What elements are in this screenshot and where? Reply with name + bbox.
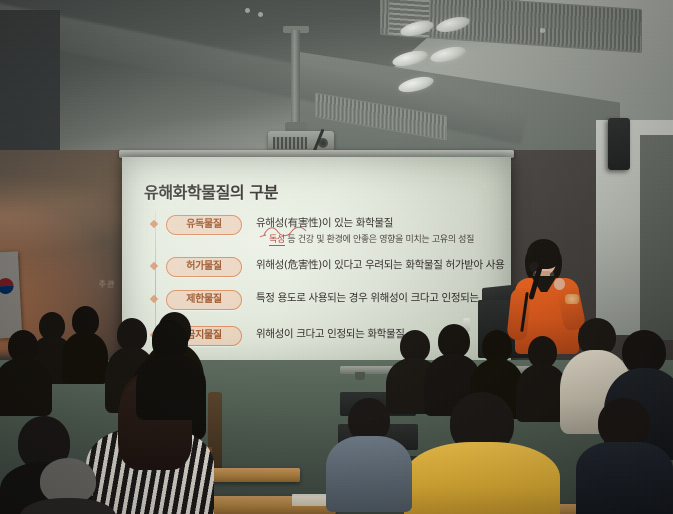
projector-mount-pole (291, 30, 300, 128)
rail-foot (355, 372, 365, 380)
slide-row: 제한물질 특정 용도로 사용되는 경우 위해성이 크다고 인정되는 화학물질 (140, 290, 497, 310)
audience-person (136, 322, 206, 416)
audience-shoulders (20, 498, 116, 514)
right-wall-dark-panel (640, 135, 673, 340)
slide-row-text: 위해성(危害性)이 있다고 우려되는 화학물질 허가받아 사용 (256, 258, 504, 272)
lecture-hall-photo: 주관 유해화학물질의 구분 유독물질 유해성(有害性)이 있는 화학물질 (0, 0, 673, 514)
audience-head (598, 398, 650, 448)
wall-banner-graphic-highlight (0, 175, 140, 255)
audience-person (0, 330, 48, 414)
ceiling-sprinkler (540, 28, 545, 33)
slide-row: 유독물질 유해성(有害性)이 있는 화학물질 독성 등 건강 및 환경에 안좋은… (140, 215, 497, 246)
ceiling-sprinkler (258, 12, 263, 17)
audience-person-yellow (404, 392, 560, 514)
yellow-sweater (404, 442, 560, 514)
audience-shoulders (136, 354, 206, 420)
slide-row-text: 특정 용도로 사용되는 경우 위해성이 크다고 인정되는 화학물질 (256, 291, 511, 305)
ceiling-sprinkler (245, 8, 250, 13)
bullet-diamond-icon (150, 262, 158, 270)
wall-speaker (608, 118, 630, 170)
category-pill: 제한물질 (166, 290, 242, 310)
slide-row: 허가물질 위해성(危害性)이 있다고 우려되는 화학물질 허가받아 사용 (140, 257, 497, 277)
slide-subnote-wrap: 독성 등 건강 및 환경에 안좋은 영향을 미치는 고유의 성질 (256, 234, 474, 246)
slide-row-text: 위해성이 크다고 인정되는 화학물질 (256, 327, 405, 341)
projector-vent-grill (273, 137, 307, 149)
audience-head (438, 324, 470, 358)
slide-row-body: 위해성이 크다고 인정되는 화학물질 (256, 326, 405, 341)
bullet-diamond-icon (150, 220, 158, 228)
slide-row-body: 위해성(危害性)이 있다고 우려되는 화학물질 허가받아 사용 (256, 257, 504, 272)
taeguk-blue-half-icon (0, 286, 14, 295)
category-pill: 허가물질 (166, 257, 242, 277)
presenter-hand (554, 278, 565, 290)
audience-shoulders (576, 442, 673, 514)
slide-title: 유해화학물질의 구분 (144, 179, 497, 203)
slide-row-body: 특정 용도로 사용되는 경우 위해성이 크다고 인정되는 화학물질 (256, 290, 511, 305)
audience-person (62, 306, 108, 382)
audience-shoulders (0, 358, 52, 416)
slide-row-body: 유해성(有害性)이 있는 화학물질 독성 등 건강 및 환경에 안좋은 영향을 … (256, 215, 474, 246)
audience-shoulders (326, 436, 412, 512)
category-pill: 유독물질 (166, 215, 242, 235)
audience-person (20, 458, 116, 514)
bullet-diamond-icon (150, 295, 158, 303)
audience-person (576, 398, 673, 514)
annotation-arrow-icon (260, 224, 318, 237)
audience-person (326, 398, 412, 508)
presenter-shoulder-patch (565, 294, 579, 304)
